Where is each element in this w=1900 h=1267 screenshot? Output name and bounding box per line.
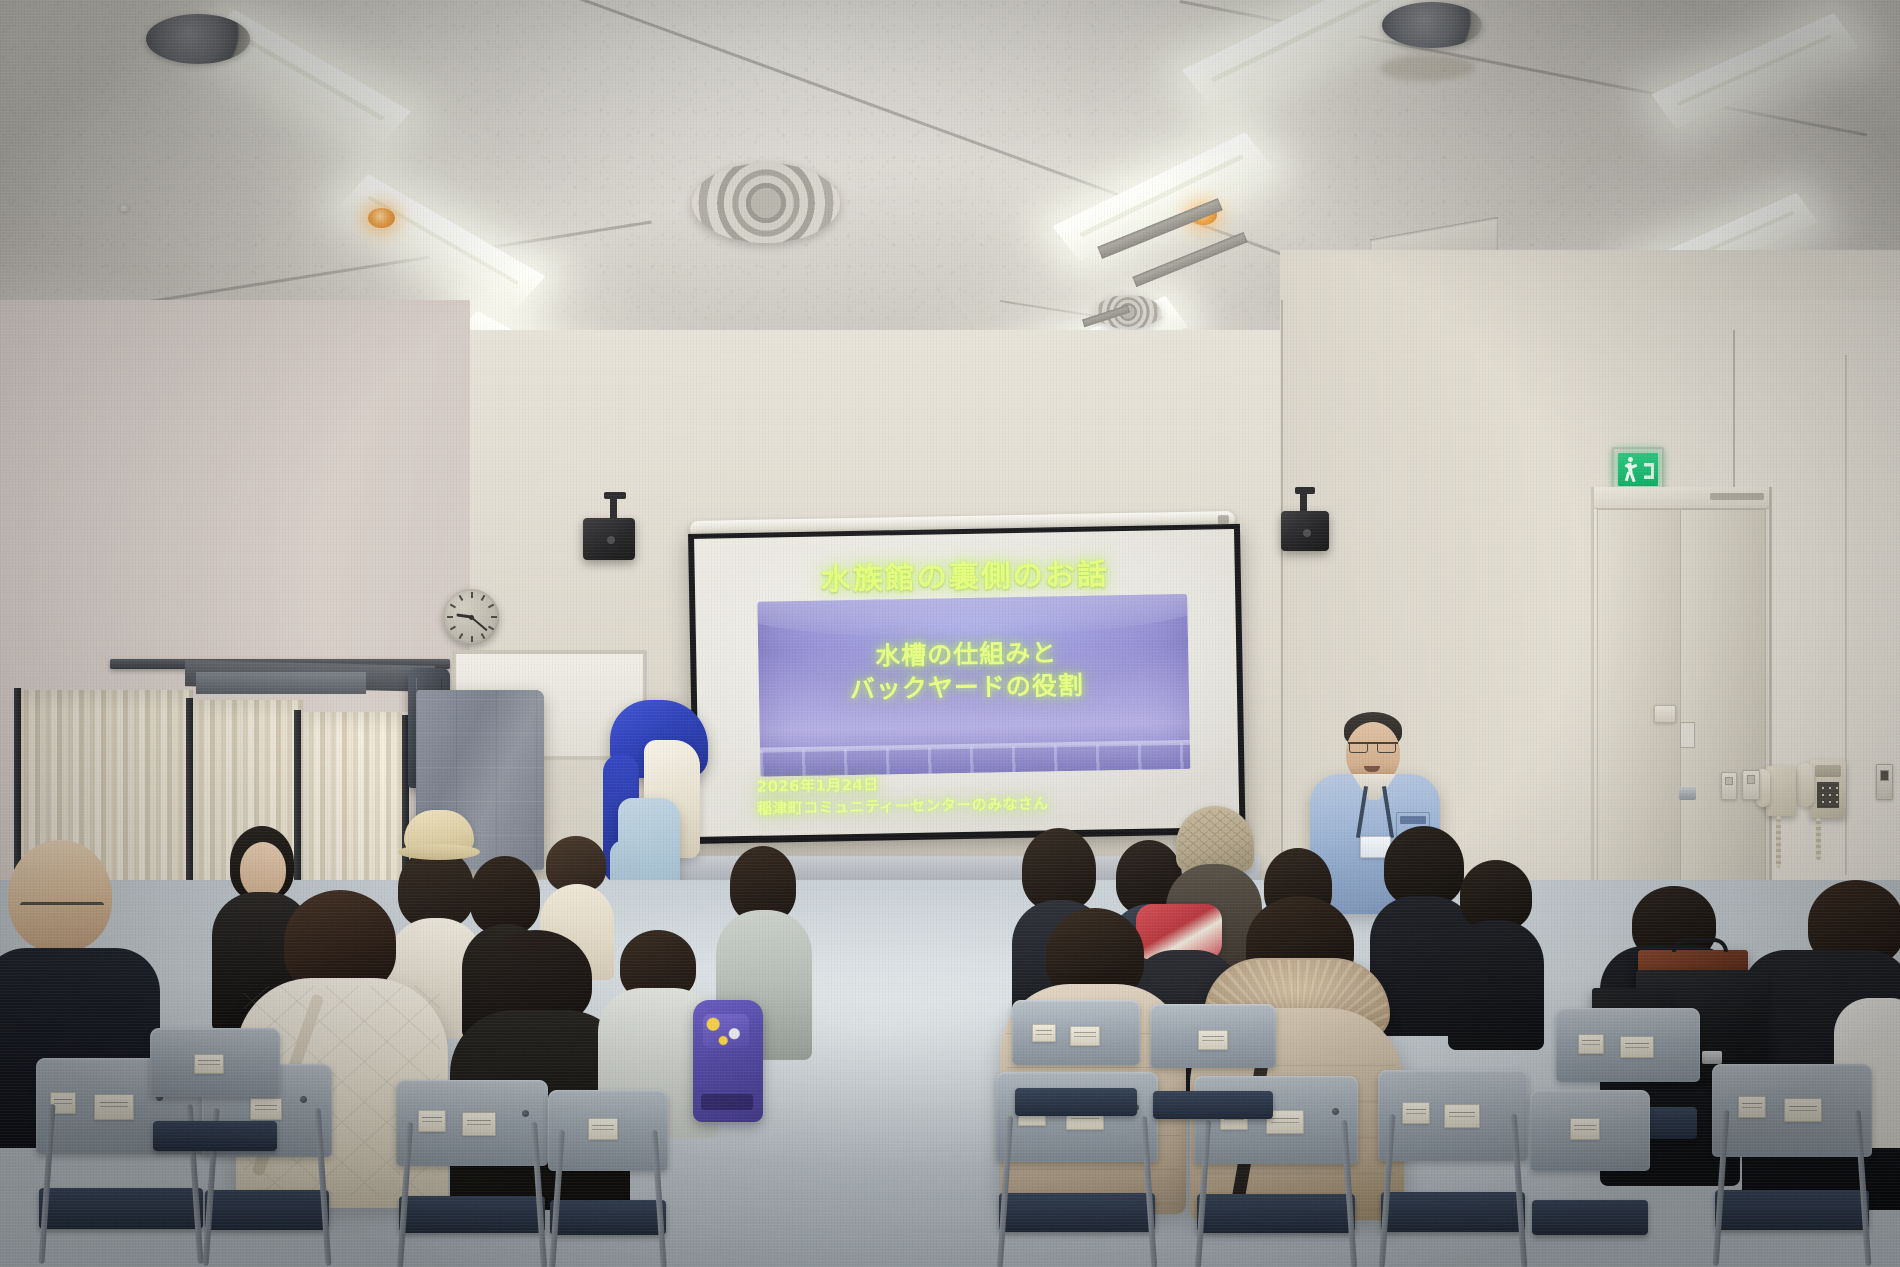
- chair-label-sticker: [462, 1112, 496, 1136]
- chair-seat: [205, 1190, 330, 1231]
- exit-sign: [1612, 447, 1664, 492]
- folding-chair[interactable]: [1712, 1064, 1872, 1267]
- wall-clock: [443, 589, 499, 645]
- chair-seat: [1532, 1200, 1647, 1235]
- phone-display: [1815, 765, 1841, 777]
- folding-chair[interactable]: [1378, 1070, 1528, 1267]
- wall-phone[interactable]: [1810, 760, 1846, 818]
- case-handle-icon: [1672, 938, 1728, 952]
- chair-label-sticker: [588, 1118, 618, 1140]
- chair-seat: [153, 1121, 278, 1151]
- clock-tick: [481, 595, 486, 601]
- wall-phone[interactable]: [1766, 766, 1796, 816]
- folding-chair[interactable]: [1012, 1000, 1140, 1142]
- chair-seat: [999, 1193, 1155, 1232]
- clock-tick: [488, 626, 494, 631]
- chair-seat: [39, 1188, 202, 1230]
- chair-label-sticker: [1620, 1036, 1654, 1058]
- chair-rivet-icon: [300, 1096, 307, 1103]
- smoke-detector-icon: [120, 205, 129, 212]
- wall-switch-plate[interactable]: [1721, 772, 1737, 800]
- running-person-icon: [1625, 457, 1636, 483]
- presentation-room-photo: 水族館の裏側のお話 水槽の仕組みと バックヤードの役割 2026年1月24日 稲…: [0, 0, 1900, 1267]
- wall-speaker-icon: [583, 518, 635, 560]
- chair-label-sticker: [1198, 1030, 1228, 1050]
- orange-downlight-icon: [368, 208, 395, 228]
- phone-keypad-icon[interactable]: [1817, 782, 1839, 808]
- presenter-glasses-lens: [1349, 742, 1368, 753]
- clock-tick: [450, 626, 456, 631]
- presenter-glasses-lens: [1377, 742, 1396, 753]
- clock-tick: [488, 604, 494, 609]
- chair-seat: [1153, 1091, 1274, 1119]
- screen-end-cap: [1218, 515, 1229, 524]
- air-diffuser-icon: [692, 163, 840, 243]
- audience-member: [1448, 860, 1544, 1040]
- chair-label-sticker: [194, 1054, 224, 1074]
- speaker-bracket: [1300, 491, 1307, 513]
- chair-label-sticker: [1032, 1024, 1056, 1042]
- door-handle-icon[interactable]: [1679, 787, 1696, 800]
- chair-label-sticker: [1570, 1118, 1600, 1140]
- switch-toggle-icon[interactable]: [1747, 775, 1756, 783]
- wall-panel: [196, 672, 366, 694]
- chair-label-sticker: [1070, 1026, 1100, 1046]
- wall-outlet-plate[interactable]: [1876, 764, 1893, 800]
- slide-title: 水族館の裏側のお話: [694, 547, 1235, 601]
- chair-seat: [1381, 1192, 1525, 1231]
- ceiling-speaker-icon: [146, 14, 250, 64]
- presenter-pocket-logo: [1400, 816, 1426, 824]
- clock-tick: [471, 592, 473, 598]
- chair-label-sticker: [1578, 1034, 1604, 1054]
- speaker-bracket: [610, 496, 617, 520]
- folding-chair[interactable]: [396, 1080, 548, 1267]
- person-coat: [1448, 920, 1544, 1050]
- projection-screen-surface: 水族館の裏側のお話 水槽の仕組みと バックヤードの役割 2026年1月24日 稲…: [694, 529, 1239, 837]
- slide-footer: 2026年1月24日 稲津町コミュニティーセンターのみなさん: [756, 772, 1048, 820]
- folding-chair[interactable]: [1530, 1090, 1650, 1267]
- clock-center-pin: [469, 615, 474, 620]
- projection-screen: 水族館の裏側のお話 水槽の仕組みと バックヤードの役割 2026年1月24日 稲…: [688, 524, 1246, 844]
- phone-cord: [1816, 818, 1821, 860]
- ceiling-speaker-icon: [1382, 2, 1482, 48]
- door-closer-icon: [1710, 493, 1764, 500]
- chair-label-sticker: [1738, 1096, 1766, 1118]
- chair-label-sticker: [418, 1110, 446, 1132]
- wall-panel-plate: [1654, 705, 1676, 723]
- folding-chair[interactable]: [1150, 1004, 1276, 1144]
- clock-tick: [447, 616, 453, 618]
- chair-label-sticker: [94, 1094, 134, 1120]
- clock-tick: [481, 633, 486, 639]
- person-hair: [1022, 828, 1096, 910]
- chair-rivet-icon: [1332, 1108, 1339, 1115]
- door-sign-plate: [1680, 722, 1695, 748]
- case-latch-icon: [1702, 1051, 1722, 1064]
- exit-sign-face: [1618, 453, 1658, 486]
- clock-tick: [459, 595, 464, 601]
- chair-label-sticker: [1784, 1098, 1822, 1122]
- exit-door-icon: [1644, 463, 1654, 479]
- outlet-socket-icon: [1880, 770, 1888, 780]
- slide-audience: 稲津町コミュニティーセンターのみなさん: [757, 793, 1049, 820]
- person-head: [8, 840, 112, 952]
- phone-cord: [1776, 816, 1781, 868]
- chair-seat: [1015, 1088, 1138, 1116]
- clock-tick: [450, 604, 456, 609]
- chair-seat: [1197, 1194, 1354, 1232]
- clock-tick: [471, 636, 473, 642]
- wall-speaker-icon: [1281, 511, 1329, 551]
- chair-label-sticker: [1444, 1104, 1480, 1128]
- folding-chair[interactable]: [548, 1090, 668, 1267]
- folding-chair[interactable]: [150, 1028, 280, 1178]
- chair-seat: [550, 1200, 665, 1235]
- clock-tick: [459, 633, 464, 639]
- chair-seat: [399, 1196, 545, 1233]
- chair-label-sticker: [1402, 1102, 1430, 1124]
- person-glasses-icon: [20, 902, 104, 916]
- person-hair: [470, 856, 540, 934]
- slide-subtitle: 水槽の仕組みと バックヤードの役割: [696, 633, 1237, 709]
- switch-toggle-icon[interactable]: [1725, 777, 1733, 785]
- chair-seat: [1715, 1190, 1869, 1231]
- phone-handset-icon: [1797, 763, 1814, 807]
- clock-tick: [491, 616, 497, 618]
- wall-switch-plate[interactable]: [1742, 770, 1760, 800]
- chair-rivet-icon: [522, 1110, 529, 1117]
- child-backpack: [693, 1000, 763, 1122]
